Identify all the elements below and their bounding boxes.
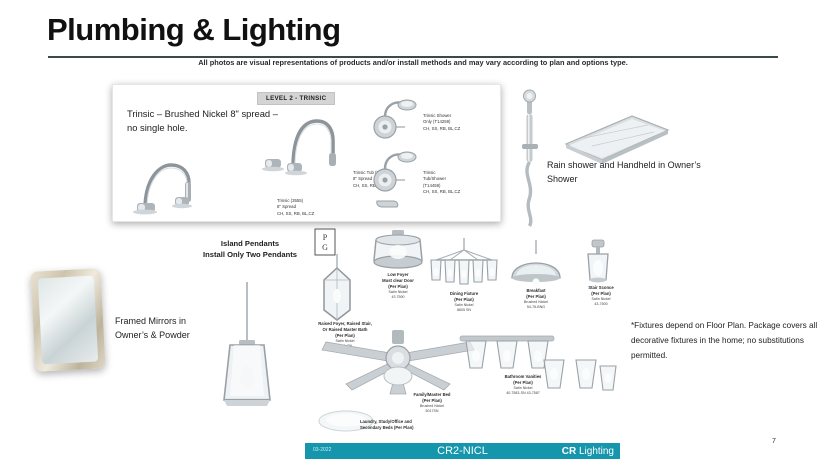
stair-sconce-sku: 43-7500 [570,302,632,307]
island-pendant-lantern-image [212,282,282,412]
dining-fixture-sku: 8605 SN [428,308,500,313]
pg-logo-icon: P G [314,228,336,256]
stair-sconce-image [578,238,618,286]
bathroom-vanities-caption: Bathroom Vanities (Per Plan) Satin Nicke… [482,374,564,397]
laundry-line2: Secondary Beds (Per Plan) [360,425,452,431]
trinsic-heading: Trinsic – Brushed Nickel 8" spread – no … [127,107,278,134]
trinsic-heading-line1: Trinsic – Brushed Nickel 8" spread – [127,107,278,121]
trinsic-lav-faucet-image [131,153,209,215]
bathroom-vanities-sku: 40-7583-SN 43-7587 [482,391,564,396]
trinsic-lav-label: Trinsic (3555) 8" Spread CH, SS, RB, BL,… [277,198,314,217]
trinsic-heading-line2: no single hole. [127,121,278,135]
dining-fixture-caption: Dining Fixture (Per Plan) Satin Nickel 8… [428,291,500,314]
footer-brand-lighting: Lighting [579,446,614,457]
low-foyer-sku: 43 7590 [363,295,433,300]
rain-shower-callout: Rain shower and Handheld in Owner’s Show… [547,159,712,186]
trinsic-tub-shower-image [369,151,429,213]
footer-bar: 03-2022 CR2-NICL CR Lighting [305,443,620,459]
trinsic-shower-only-image [369,97,429,149]
mirror-glass [38,276,98,365]
dining-fixture-image [428,238,500,294]
svg-text:G: G [322,243,328,252]
trinsic-shower-only-finishes: CH, SS, RB, BL,CZ [423,126,460,132]
trinsic-tub-shower-finishes: CH, SS, RB, BL,CZ [423,189,460,195]
laundry-caption: Laundry, Study/Office and Secondary Beds… [360,419,452,431]
header-subtitle: All photos are visual representations of… [48,58,778,67]
footer-brand: CR Lighting [562,446,614,457]
trinsic-shower-only-label: Trinsic Shower Only (T14259) CH, SS, RB,… [423,113,460,132]
low-foyer-flushmount-image [366,230,430,274]
trinsic-lav-finishes: CH, SS, RB, BL,CZ [277,211,314,217]
low-foyer-caption: Low Foyer Must clear Door (Per Plan) Sat… [363,272,433,301]
slide-canvas: Plumbing & Lighting All photos are visua… [0,0,825,463]
page-number: 7 [772,438,776,445]
breakfast-caption: Breakfast (Per Plan) Brushed Nickel 54-7… [500,288,572,311]
fixtures-note: *Fixtures depend on Floor Plan. Package … [631,318,821,364]
family-master-bed-sku: 5017SN [396,409,468,414]
breakfast-sku: 54-76-BNG [500,305,572,310]
island-pendants-callout: Island Pendants Install Only Two Pendant… [181,238,319,260]
island-pendants-line2: Install Only Two Pendants [181,249,319,260]
stair-sconce-caption: Stair Sconce (Per Plan) Satin Nickel 43-… [570,285,632,308]
trinsic-tub-shower-label: Trinsic Tub/Shower (T14459) CH, SS, RB, … [423,170,460,196]
breakfast-pendant-image [506,240,566,288]
family-master-bed-caption: Family/Master Bed (Per Plan) Brushed Nic… [396,392,468,415]
level-badge: LEVEL 2 - TRINSIC [257,92,335,105]
page-title: Plumbing & Lighting [47,14,341,47]
handheld-shower-image [512,88,548,228]
framed-mirrors-callout: Framed Mirrors in Owner’s & Powder [115,315,205,342]
footer-brand-cr: CR [562,446,576,457]
svg-text:P: P [323,233,328,242]
trinsic-tub-faucet-image [259,115,341,177]
framed-mirror-image [30,268,105,372]
trinsic-panel: LEVEL 2 - TRINSIC Trinsic – Brushed Nick… [112,84,501,222]
raised-foyer-lantern-image [316,254,358,326]
island-pendants-line1: Island Pendants [181,238,319,249]
